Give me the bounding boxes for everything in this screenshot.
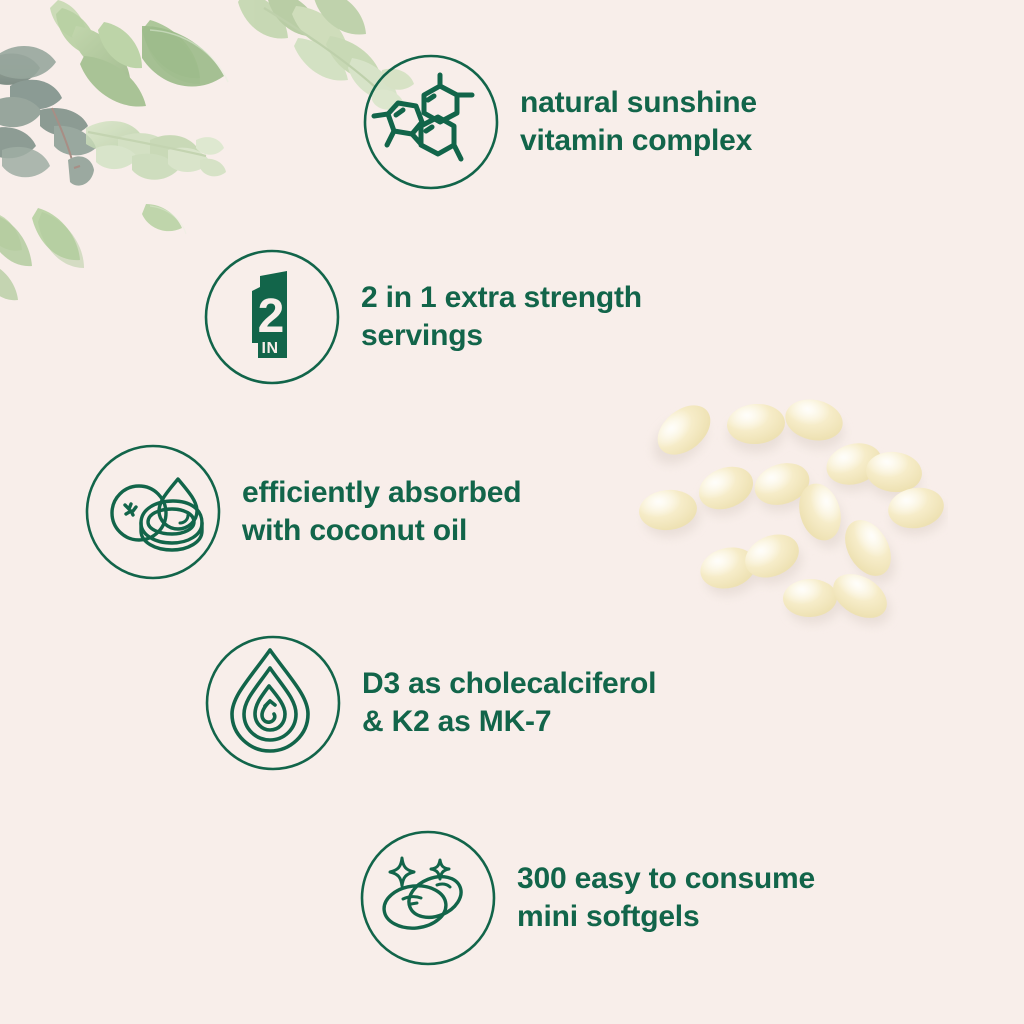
eucalyptus-sprig-dark bbox=[0, 46, 96, 186]
feature-label: 2 in 1 extra strength servings bbox=[361, 279, 642, 356]
leaf-center-large bbox=[142, 26, 228, 86]
svg-text:2: 2 bbox=[258, 290, 285, 343]
softgel-capsules-image bbox=[628, 368, 948, 668]
feature-row-mini-softgels: 300 easy to consume mini softgels bbox=[359, 829, 815, 967]
feature-label: D3 as cholecalciferol & K2 as MK-7 bbox=[362, 665, 656, 742]
feature-row-two-in-one: 2 IN 2 in 1 extra strength servings bbox=[203, 248, 642, 386]
feature-row-natural-sunshine: natural sunshine vitamin complex bbox=[362, 53, 757, 191]
eucalyptus-sprig-light bbox=[86, 121, 226, 180]
feature-label: efficiently absorbed with coconut oil bbox=[242, 474, 521, 551]
feature-label: natural sunshine vitamin complex bbox=[520, 84, 757, 161]
feature-row-coconut-oil: efficiently absorbed with coconut oil bbox=[84, 443, 521, 581]
svg-text:IN: IN bbox=[262, 340, 279, 357]
feature-label: 300 easy to consume mini softgels bbox=[517, 860, 815, 937]
softgels-sparkle-icon bbox=[359, 829, 497, 967]
molecule-hexagons-icon bbox=[362, 53, 500, 191]
feature-row-d3-k2: D3 as cholecalciferol & K2 as MK-7 bbox=[204, 634, 656, 772]
leaf-cluster-top bbox=[50, 0, 200, 107]
coconut-oil-drop-icon bbox=[84, 443, 222, 581]
spiral-droplet-icon bbox=[204, 634, 342, 772]
leaf-scatter bbox=[0, 204, 186, 300]
two-in-one-badge-icon: 2 IN bbox=[203, 248, 341, 386]
product-feature-infographic: natural sunshine vitamin complex 2 IN 2 … bbox=[0, 0, 1024, 1024]
